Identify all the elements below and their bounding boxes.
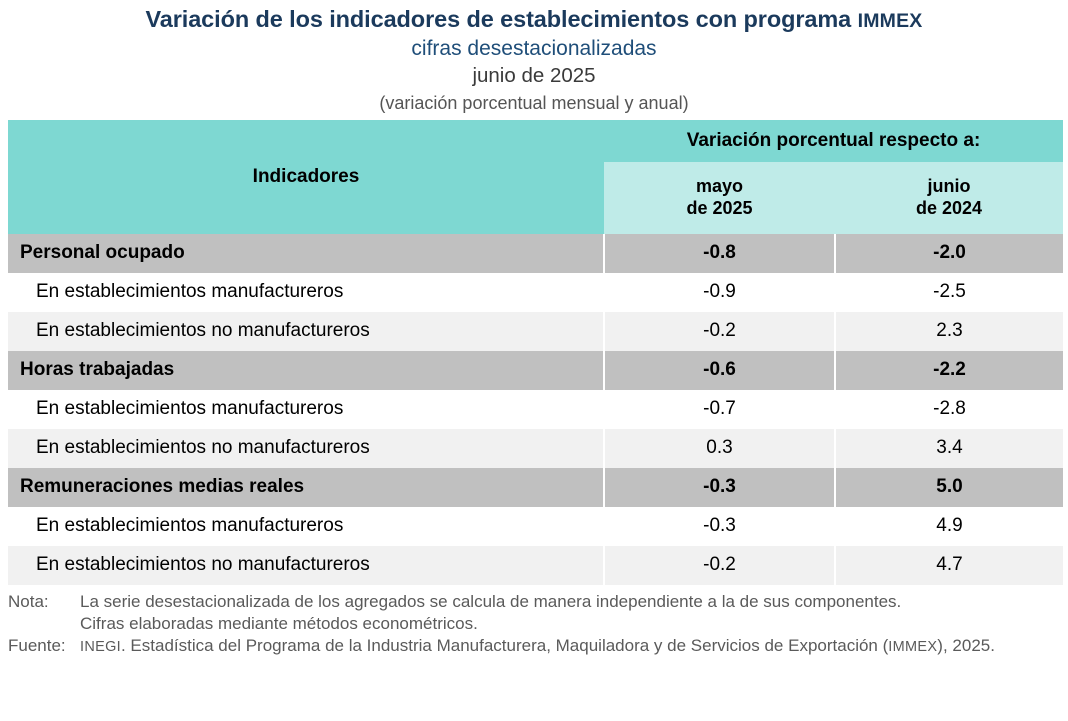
source-acronym-inegi: INEGI <box>80 639 121 655</box>
cell-value-junio-2024: -2.2 <box>835 351 1063 390</box>
table-row: Horas trabajadas-0.6-2.2 <box>8 351 1063 390</box>
table-row: En establecimientos manufactureros-0.34.… <box>8 507 1063 546</box>
table-page: Variación de los indicadores de establec… <box>0 0 1068 721</box>
table-row: En establecimientos no manufactureros0.3… <box>8 429 1063 468</box>
cell-value-mayo-2025: -0.3 <box>604 468 835 507</box>
page-title-acronym-immex: IMMEX <box>858 10 923 32</box>
table-row: En establecimientos manufactureros-0.7-2… <box>8 390 1063 429</box>
row-label-total: Personal ocupado <box>8 234 604 273</box>
table-body: Personal ocupado-0.8-2.0En establecimien… <box>8 234 1063 585</box>
data-table-container: Indicadores Variación porcentual respect… <box>8 120 1063 585</box>
column-header-junio-line2: de 2024 <box>916 198 982 218</box>
source-label: Fuente: <box>8 635 80 657</box>
row-label-subitem: En establecimientos manufactureros <box>8 390 604 429</box>
subtitle-series-type: cifras desestacionalizadas <box>0 35 1068 62</box>
subtitle-period: junio de 2025 <box>0 63 1068 90</box>
note-line-1: Nota: La serie desestacionalizada de los… <box>8 591 1063 613</box>
cell-value-junio-2024: 5.0 <box>835 468 1063 507</box>
page-title-text: Variación de los indicadores de establec… <box>145 6 857 32</box>
row-label-subitem: En establecimientos no manufactureros <box>8 546 604 585</box>
column-header-indicadores: Indicadores <box>8 120 604 234</box>
column-header-junio-2024: junio de 2024 <box>835 162 1063 234</box>
cell-value-junio-2024: -2.5 <box>835 273 1063 312</box>
cell-value-junio-2024: 3.4 <box>835 429 1063 468</box>
source-acronym-immex: IMMEX <box>888 639 937 655</box>
cell-value-junio-2024: 4.7 <box>835 546 1063 585</box>
title-block: Variación de los indicadores de establec… <box>0 0 1068 115</box>
note-label: Nota: <box>8 591 80 613</box>
row-label-total: Horas trabajadas <box>8 351 604 390</box>
column-header-mayo-line1: mayo <box>696 176 743 196</box>
cell-value-junio-2024: 2.3 <box>835 312 1063 351</box>
cell-value-junio-2024: -2.8 <box>835 390 1063 429</box>
cell-value-mayo-2025: -0.2 <box>604 546 835 585</box>
table-row: Personal ocupado-0.8-2.0 <box>8 234 1063 273</box>
indicators-table: Indicadores Variación porcentual respect… <box>8 120 1063 585</box>
cell-value-mayo-2025: 0.3 <box>604 429 835 468</box>
row-label-subitem: En establecimientos manufactureros <box>8 273 604 312</box>
page-title: Variación de los indicadores de establec… <box>0 6 1068 34</box>
table-header: Indicadores Variación porcentual respect… <box>8 120 1063 234</box>
column-header-group-variacion: Variación porcentual respecto a: <box>604 120 1063 162</box>
source-text-part-b: ), 2025. <box>937 636 995 655</box>
table-header-row-1: Indicadores Variación porcentual respect… <box>8 120 1063 162</box>
column-header-mayo-2025: mayo de 2025 <box>604 162 835 234</box>
cell-value-mayo-2025: -0.2 <box>604 312 835 351</box>
cell-value-mayo-2025: -0.7 <box>604 390 835 429</box>
cell-value-mayo-2025: -0.3 <box>604 507 835 546</box>
note-text-2: Cifras elaboradas mediante métodos econo… <box>80 613 1063 635</box>
source-line: Fuente: INEGI. Estadística del Programa … <box>8 635 1063 657</box>
column-header-junio-line1: junio <box>928 176 971 196</box>
cell-value-mayo-2025: -0.6 <box>604 351 835 390</box>
row-label-subitem: En establecimientos no manufactureros <box>8 429 604 468</box>
note-line-2: Cifras elaboradas mediante métodos econo… <box>8 613 1063 635</box>
cell-value-junio-2024: 4.9 <box>835 507 1063 546</box>
cell-value-mayo-2025: -0.9 <box>604 273 835 312</box>
source-text: INEGI. Estadística del Programa de la In… <box>80 635 1063 657</box>
cell-value-junio-2024: -2.0 <box>835 234 1063 273</box>
table-row: Remuneraciones medias reales-0.35.0 <box>8 468 1063 507</box>
subtitle-units: (variación porcentual mensual y anual) <box>0 92 1068 115</box>
cell-value-mayo-2025: -0.8 <box>604 234 835 273</box>
footnotes: Nota: La serie desestacionalizada de los… <box>8 591 1063 657</box>
row-label-total: Remuneraciones medias reales <box>8 468 604 507</box>
row-label-subitem: En establecimientos no manufactureros <box>8 312 604 351</box>
source-text-part-a: . Estadística del Programa de la Industr… <box>121 636 888 655</box>
column-header-mayo-line2: de 2025 <box>686 198 752 218</box>
table-row: En establecimientos manufactureros-0.9-2… <box>8 273 1063 312</box>
table-row: En establecimientos no manufactureros-0.… <box>8 312 1063 351</box>
table-row: En establecimientos no manufactureros-0.… <box>8 546 1063 585</box>
row-label-subitem: En establecimientos manufactureros <box>8 507 604 546</box>
note-text-1: La serie desestacionalizada de los agreg… <box>80 591 1063 613</box>
